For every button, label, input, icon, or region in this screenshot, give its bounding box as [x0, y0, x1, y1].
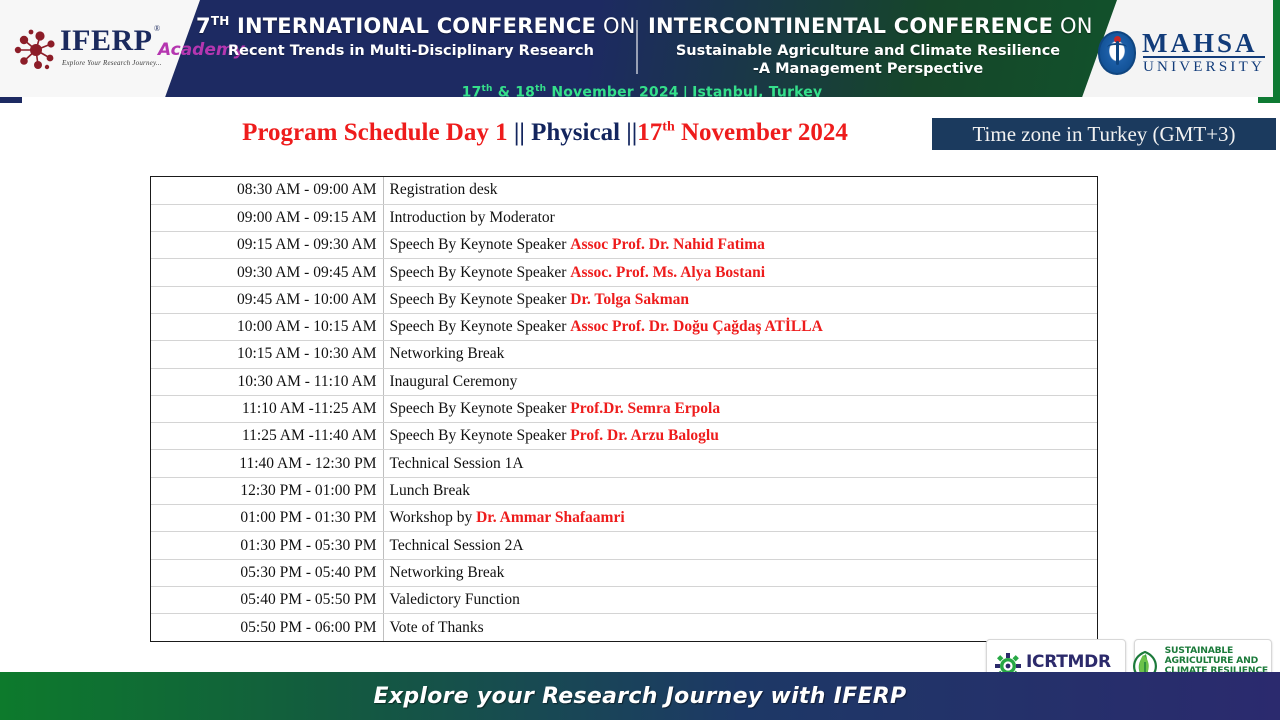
activity-text: Valedictory Function — [390, 591, 520, 608]
table-row: 12:30 PM - 01:00 PMLunch Break — [151, 477, 1097, 504]
schedule-activity-cell: Inaugural Ceremony — [383, 368, 1097, 395]
activity-text: Speech By Keynote Speaker — [390, 318, 571, 335]
footer-banner: Explore your Research Journey with IFERP — [0, 672, 1280, 720]
schedule-time-cell: 10:30 AM - 11:10 AM — [151, 368, 383, 395]
speaker-name: Assoc. Prof. Ms. Alya Bostani — [570, 264, 765, 281]
slide-canvas: IFERP ® Academy Explore Your Research Jo… — [0, 0, 1280, 720]
conf-right-title-on: ON — [1053, 14, 1093, 38]
title-part-day-sup: th — [662, 120, 674, 135]
schedule-time-cell: 09:30 AM - 09:45 AM — [151, 259, 383, 286]
conf-left-num: 7 — [196, 14, 211, 38]
speaker-name: Assoc Prof. Dr. Nahid Fatima — [570, 236, 765, 253]
schedule-activity-cell: Speech By Keynote Speaker Dr. Tolga Sakm… — [383, 286, 1097, 313]
iferp-wordmark: IFERP — [60, 24, 153, 58]
schedule-time-cell: 11:25 AM -11:40 AM — [151, 423, 383, 450]
table-row: 09:30 AM - 09:45 AMSpeech By Keynote Spe… — [151, 259, 1097, 286]
activity-text: Speech By Keynote Speaker — [390, 236, 571, 253]
mahsa-university-logo: MAHSA UNIVERSITY — [1088, 28, 1266, 78]
title-part-program: Program Schedule Day 1 — [242, 119, 514, 146]
activity-text: Networking Break — [390, 345, 505, 362]
title-part-date: November 2024 — [675, 119, 848, 146]
activity-text: Registration desk — [390, 181, 498, 198]
speaker-name: Dr. Tolga Sakman — [570, 291, 689, 308]
activity-text: Speech By Keynote Speaker — [390, 291, 571, 308]
title-part-physical: || Physical || — [514, 119, 637, 146]
table-row: 01:30 PM - 05:30 PMTechnical Session 2A — [151, 532, 1097, 559]
schedule-activity-cell: Registration desk — [383, 177, 1097, 204]
table-row: 11:40 AM - 12:30 PMTechnical Session 1A — [151, 450, 1097, 477]
schedule-time-cell: 11:40 AM - 12:30 PM — [151, 450, 383, 477]
mahsa-wordmark: MAHSA — [1142, 28, 1258, 59]
conference-right-subtitle-1: Sustainable Agriculture and Climate Resi… — [648, 42, 1088, 61]
speaker-name: Assoc Prof. Dr. Doğu Çağdaş ATİLLA — [570, 318, 822, 335]
conference-right-subtitle-2: -A Management Perspective — [648, 60, 1088, 79]
table-row: 08:30 AM - 09:00 AMRegistration desk — [151, 177, 1097, 204]
schedule-activity-cell: Workshop by Dr. Ammar Shafaamri — [383, 505, 1097, 532]
schedule-time-cell: 09:15 AM - 09:30 AM — [151, 232, 383, 259]
speaker-name: Dr. Ammar Shafaamri — [476, 509, 625, 526]
activity-text: Technical Session 1A — [390, 455, 524, 472]
schedule-activity-cell: Introduction by Moderator — [383, 204, 1097, 231]
activity-text: Workshop by — [390, 509, 477, 526]
iferp-tagline: Explore Your Research Journey... — [62, 59, 162, 67]
speaker-name: Prof. Dr. Arzu Baloglu — [570, 427, 719, 444]
mahsa-seal-wing — [1107, 43, 1127, 52]
table-row: 09:45 AM - 10:00 AMSpeech By Keynote Spe… — [151, 286, 1097, 313]
schedule-time-cell: 05:40 PM - 05:50 PM — [151, 586, 383, 613]
schedule-activity-cell: Vote of Thanks — [383, 614, 1097, 641]
schedule-table-body: 08:30 AM - 09:00 AMRegistration desk09:0… — [151, 177, 1097, 641]
activity-text: Speech By Keynote Speaker — [390, 400, 571, 417]
date-day2-sup: th — [535, 84, 546, 94]
activity-text: Inaugural Ceremony — [390, 373, 518, 390]
table-row: 09:15 AM - 09:30 AMSpeech By Keynote Spe… — [151, 232, 1097, 259]
schedule-activity-cell: Speech By Keynote Speaker Assoc Prof. Dr… — [383, 232, 1097, 259]
activity-text: Technical Session 2A — [390, 537, 524, 554]
conf-right-title-main: INTERCONTINENTAL CONFERENCE — [648, 14, 1053, 38]
conf-left-title-on: ON — [596, 14, 636, 38]
conference-header-banner: IFERP ® Academy Explore Your Research Jo… — [0, 0, 1280, 103]
activity-text: Speech By Keynote Speaker — [390, 264, 571, 281]
conference-left-block: 7TH INTERNATIONAL CONFERENCE ON Recent T… — [196, 14, 626, 60]
schedule-activity-cell: Valedictory Function — [383, 586, 1097, 613]
schedule-activity-cell: Technical Session 1A — [383, 450, 1097, 477]
icrtmdr-name: ICRTMDR — [1026, 654, 1117, 671]
activity-text: Lunch Break — [390, 482, 470, 499]
iferp-registered-mark: ® — [154, 24, 160, 33]
schedule-time-cell: 12:30 PM - 01:00 PM — [151, 477, 383, 504]
schedule-activity-cell: Speech By Keynote Speaker Assoc. Prof. M… — [383, 259, 1097, 286]
schedule-time-cell: 01:00 PM - 01:30 PM — [151, 505, 383, 532]
mahsa-university-text: UNIVERSITY — [1143, 56, 1265, 76]
schedule-activity-cell: Networking Break — [383, 559, 1097, 586]
speaker-name: Prof.Dr. Semra Erpola — [570, 400, 720, 417]
schedule-time-cell: 11:10 AM -11:25 AM — [151, 395, 383, 422]
table-row: 01:00 PM - 01:30 PMWorkshop by Dr. Ammar… — [151, 505, 1097, 532]
table-row: 10:15 AM - 10:30 AMNetworking Break — [151, 341, 1097, 368]
schedule-time-cell: 09:45 AM - 10:00 AM — [151, 286, 383, 313]
schedule-time-cell: 10:15 AM - 10:30 AM — [151, 341, 383, 368]
schedule-activity-cell: Speech By Keynote Speaker Assoc Prof. Dr… — [383, 313, 1097, 340]
conf-left-num-sup: TH — [211, 14, 230, 28]
title-part-day-number: 17 — [637, 119, 662, 146]
footer-tagline: Explore your Research Journey with IFERP — [374, 684, 907, 709]
table-row: 10:30 AM - 11:10 AMInaugural Ceremony — [151, 368, 1097, 395]
table-row: 05:30 PM - 05:40 PMNetworking Break — [151, 559, 1097, 586]
molecule-icon — [14, 28, 58, 72]
table-row: 05:40 PM - 05:50 PMValedictory Function — [151, 586, 1097, 613]
conf-left-title-main: INTERNATIONAL CONFERENCE — [229, 14, 596, 38]
page-title: Program Schedule Day 1 || Physical ||17t… — [150, 119, 940, 147]
activity-text: Speech By Keynote Speaker — [390, 427, 571, 444]
schedule-time-cell: 10:00 AM - 10:15 AM — [151, 313, 383, 340]
schedule-activity-cell: Speech By Keynote Speaker Prof. Dr. Arzu… — [383, 423, 1097, 450]
header-vertical-divider — [636, 20, 638, 74]
header-strip-left-cap — [0, 97, 22, 103]
schedule-activity-cell: Speech By Keynote Speaker Prof.Dr. Semra… — [383, 395, 1097, 422]
schedule-time-cell: 09:00 AM - 09:15 AM — [151, 204, 383, 231]
schedule-time-cell: 08:30 AM - 09:00 AM — [151, 177, 383, 204]
table-row: 09:00 AM - 09:15 AMIntroduction by Moder… — [151, 204, 1097, 231]
conference-right-title: INTERCONTINENTAL CONFERENCE ON — [648, 14, 1088, 39]
header-bottom-strip — [0, 97, 1280, 103]
table-row: 11:25 AM -11:40 AMSpeech By Keynote Spea… — [151, 423, 1097, 450]
schedule-activity-cell: Lunch Break — [383, 477, 1097, 504]
schedule-table-container: 08:30 AM - 09:00 AMRegistration desk09:0… — [150, 176, 1098, 642]
activity-text: Vote of Thanks — [390, 619, 484, 636]
conference-left-title: 7TH INTERNATIONAL CONFERENCE ON — [196, 14, 626, 39]
header-right-green-edge — [1273, 0, 1280, 103]
table-row: 05:50 PM - 06:00 PMVote of Thanks — [151, 614, 1097, 641]
schedule-activity-cell: Technical Session 2A — [383, 532, 1097, 559]
schedule-time-cell: 05:30 PM - 05:40 PM — [151, 559, 383, 586]
header-strip-right-cap — [1258, 97, 1280, 103]
table-row: 11:10 AM -11:25 AMSpeech By Keynote Spea… — [151, 395, 1097, 422]
timezone-badge: Time zone in Turkey (GMT+3) — [932, 118, 1276, 150]
mahsa-seal-icon — [1098, 31, 1136, 75]
schedule-activity-cell: Networking Break — [383, 341, 1097, 368]
iferp-logo: IFERP ® Academy Explore Your Research Jo… — [14, 22, 194, 78]
conference-left-subtitle: Recent Trends in Multi-Disciplinary Rese… — [196, 42, 626, 61]
schedule-time-cell: 01:30 PM - 05:30 PM — [151, 532, 383, 559]
date-day1-sup: th — [482, 84, 493, 94]
table-row: 10:00 AM - 10:15 AMSpeech By Keynote Spe… — [151, 313, 1097, 340]
conference-right-block: INTERCONTINENTAL CONFERENCE ON Sustainab… — [648, 14, 1088, 79]
schedule-table: 08:30 AM - 09:00 AMRegistration desk09:0… — [151, 177, 1097, 641]
activity-text: Introduction by Moderator — [390, 209, 555, 226]
schedule-time-cell: 05:50 PM - 06:00 PM — [151, 614, 383, 641]
activity-text: Networking Break — [390, 564, 505, 581]
